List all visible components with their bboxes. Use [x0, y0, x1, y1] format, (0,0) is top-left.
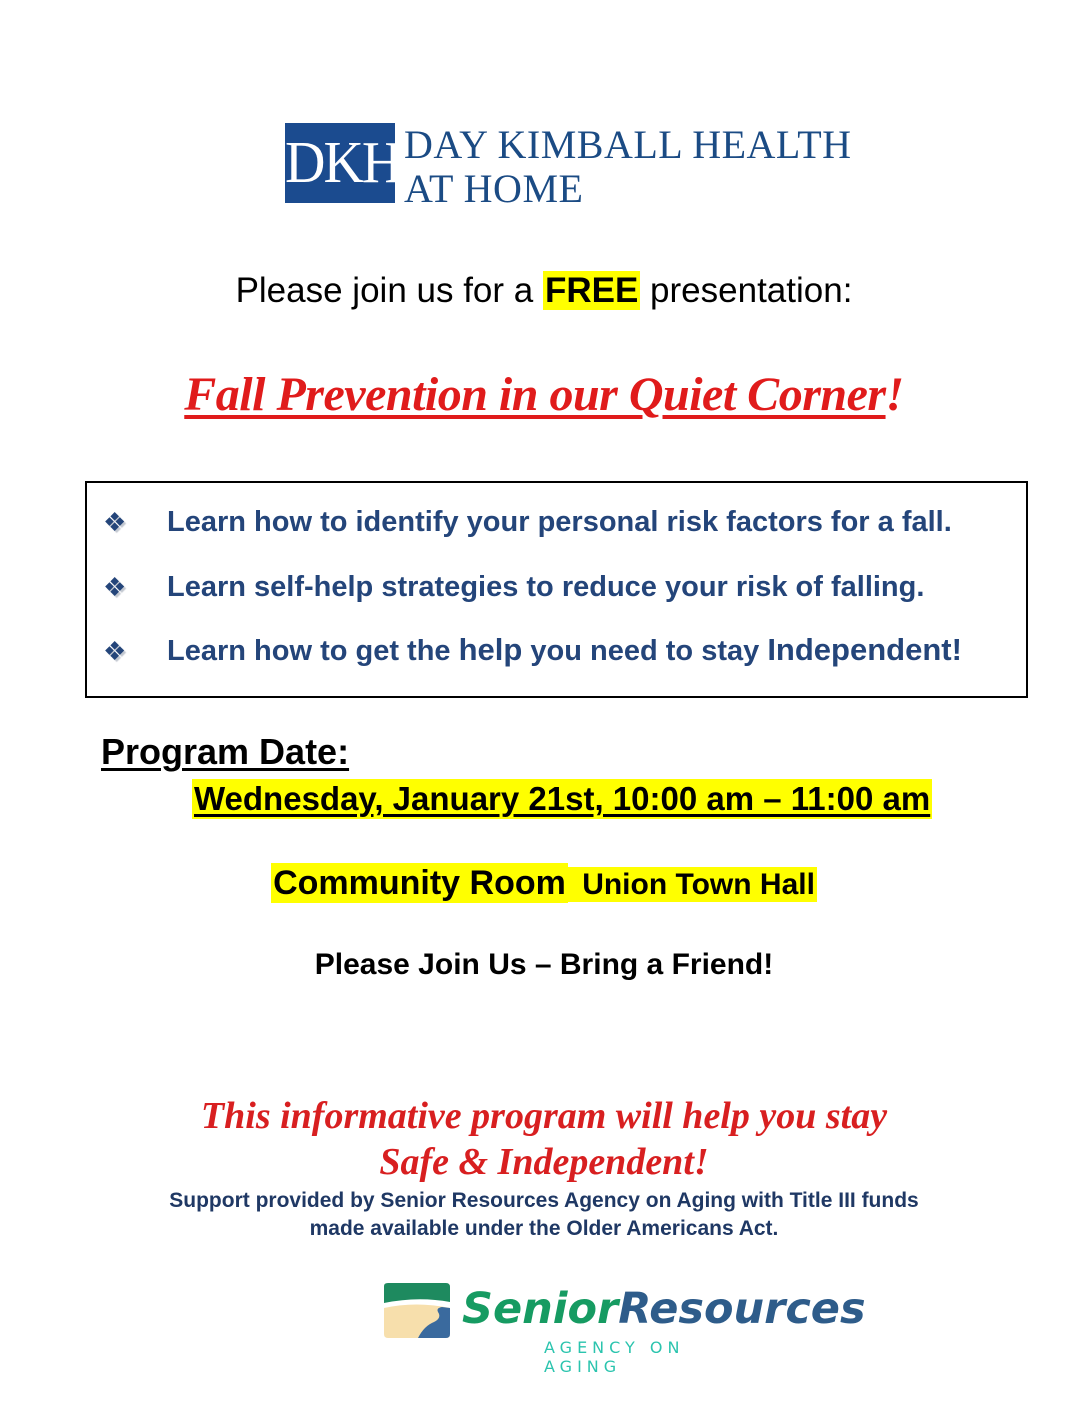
- bullet-2-seg-3: Independent!: [767, 632, 962, 667]
- program-date-value: Wednesday, January 21st, 10:00 am – 11:0…: [192, 779, 932, 819]
- list-item: ❖ Learn self-help strategies to reduce y…: [101, 570, 1016, 604]
- list-item-label: Learn self-help strategies to reduce you…: [167, 570, 924, 604]
- page-title-exclamation: !: [886, 368, 904, 421]
- dkh-wordmark-line2: AT HOME: [404, 169, 852, 209]
- flyer-page: { "brand": { "logo_mark_text": "DKH", "l…: [0, 0, 1088, 1408]
- intro-before-text: Please join us for a: [236, 271, 543, 310]
- dkh-logo: DKH DAY KIMBALL HEALTH AT HOME: [285, 123, 852, 209]
- senior-resources-logo: SeniorResources AGENCY ON AGING: [378, 1278, 728, 1373]
- dkh-logo-mark-text: DKH: [285, 123, 395, 203]
- senior-resources-tagline: AGENCY ON AGING: [544, 1338, 728, 1376]
- venue-secondary-text: Union Town Hall: [580, 867, 817, 902]
- page-title: Fall Prevention in our Quiet Corner!: [0, 366, 1088, 424]
- senior-resources-name-part2: Resources: [618, 1284, 865, 1334]
- list-item-label: Learn how to identify your personal risk…: [167, 505, 952, 539]
- senior-resources-name-part1: Senior: [462, 1284, 618, 1334]
- closing-line2: Safe & Independent!: [0, 1139, 1088, 1185]
- diamond-cluster-icon: ❖: [101, 636, 167, 667]
- intro-line: Please join us for a FREE presentation:: [0, 270, 1088, 312]
- senior-resources-mark-icon: [378, 1278, 456, 1346]
- list-item-label: Learn how to get the help you need to st…: [167, 633, 962, 668]
- list-item: ❖ Learn how to get the help you need to …: [101, 633, 1016, 668]
- bullet-2-seg-2: you need to stay: [522, 635, 767, 667]
- bullet-0-seg-0: Learn how to identify your personal risk…: [167, 506, 952, 538]
- diamond-cluster-icon: ❖: [101, 507, 167, 538]
- venue-primary: Community Room: [271, 863, 568, 903]
- venue-secondary: [568, 867, 580, 902]
- dkh-wordmark: DAY KIMBALL HEALTH AT HOME: [404, 123, 852, 209]
- support-note: Support provided by Senior Resources Age…: [0, 1187, 1088, 1243]
- closing-line1: This informative program will help you s…: [0, 1093, 1088, 1139]
- support-note-line2: made available under the Older Americans…: [0, 1215, 1088, 1243]
- dkh-wordmark-line1: DAY KIMBALL HEALTH: [404, 122, 852, 167]
- intro-after-text: presentation:: [640, 271, 852, 310]
- dkh-logo-mark: DKH: [285, 123, 395, 203]
- diamond-cluster-icon: ❖: [101, 572, 167, 603]
- senior-resources-wordmark: SeniorResources: [462, 1284, 866, 1334]
- join-call-to-action: Please Join Us – Bring a Friend!: [0, 946, 1088, 984]
- free-highlight: FREE: [543, 271, 640, 310]
- support-note-line1: Support provided by Senior Resources Age…: [0, 1187, 1088, 1215]
- bullet-2-seg-1: help: [459, 632, 523, 667]
- list-item: ❖ Learn how to identify your personal ri…: [101, 505, 1016, 539]
- program-date-label: Program Date:: [101, 731, 349, 773]
- venue-line: Community Room Union Town Hall: [0, 862, 1088, 904]
- closing-statement: This informative program will help you s…: [0, 1093, 1088, 1185]
- bullet-1-seg-0: Learn self-help strategies to reduce you…: [167, 571, 924, 603]
- benefits-box: ❖ Learn how to identify your personal ri…: [85, 481, 1028, 698]
- bullet-2-seg-0: Learn how to get the: [167, 635, 459, 667]
- page-title-underlined: Fall Prevention in our Quiet Corner: [184, 368, 885, 421]
